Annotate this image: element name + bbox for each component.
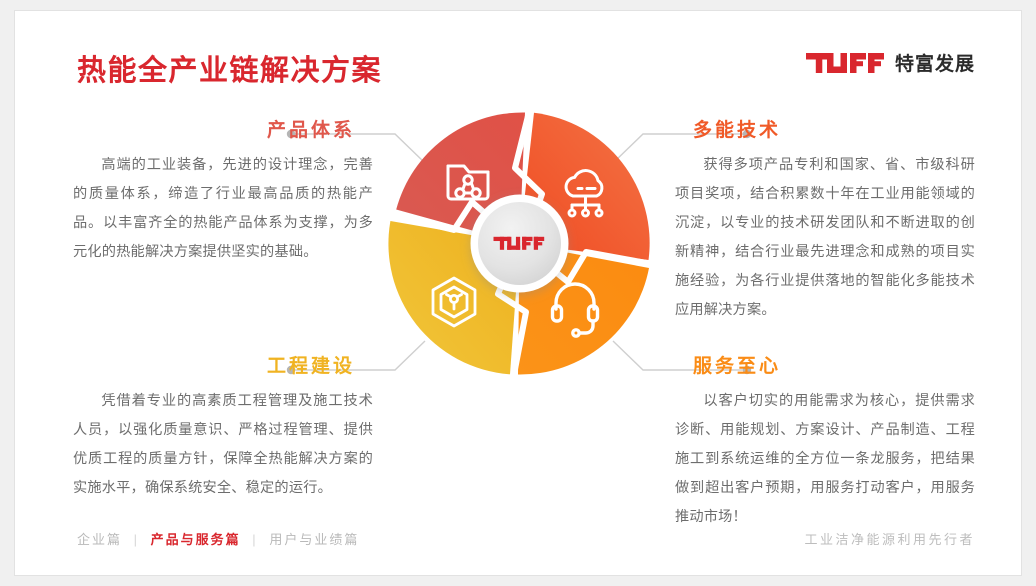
section-engineering-construction: 工程建设 凭借着专业的高素质工程管理及施工技术人员，以强化质量意识、严格过程管理… [73, 351, 373, 503]
section-title-multi-energy-technology: 多能技术 [675, 115, 975, 142]
section-title-engineering-construction: 工程建设 [73, 351, 373, 378]
section-title-service-first: 服务至心 [675, 351, 975, 378]
wheel-hub [471, 195, 569, 293]
footer-nav: 企业篇 | 产品与服务篇 | 用户与业绩篇 [77, 529, 359, 548]
footer-nav-item-0[interactable]: 企业篇 [77, 532, 122, 547]
footer-nav-item-1[interactable]: 产品与服务篇 [151, 532, 241, 547]
section-service-first: 服务至心 以客户切实的用能需求为核心，提供需求诊断、用能规划、方案设计、产品制造… [675, 351, 975, 532]
section-body-engineering-construction: 凭借着专业的高素质工程管理及施工技术人员，以强化质量意识、严格过程管理、提供优质… [73, 387, 373, 503]
hub-tuff-logo-icon [494, 237, 545, 250]
section-body-multi-energy-technology: 获得多项产品专利和国家、省、市级科研项目奖项，结合积累数十年在工业用能领域的沉淀… [675, 151, 975, 325]
tuff-wordmark-icon [806, 51, 886, 75]
footer-nav-separator-0: | [134, 532, 139, 547]
section-body-product-system: 高端的工业装备，先进的设计理念，完善的质量体系，缔造了行业最高品质的热能产品。以… [73, 151, 373, 267]
section-body-service-first: 以客户切实的用能需求为核心，提供需求诊断、用能规划、方案设计、产品制造、工程施工… [675, 387, 975, 532]
brand-logo: 特富发展 [806, 49, 975, 76]
slide-canvas: 热能全产业链解决方案 特富发展 [14, 10, 1022, 576]
slide-header: 热能全产业链解决方案 特富发展 [15, 11, 1021, 107]
slide-footer: 企业篇 | 产品与服务篇 | 用户与业绩篇 工业洁净能源利用先行者 [15, 529, 1021, 551]
footer-nav-item-2[interactable]: 用户与业绩篇 [269, 532, 359, 547]
footer-slogan: 工业洁净能源利用先行者 [804, 529, 975, 548]
section-product-system: 产品体系 高端的工业装备，先进的设计理念，完善的质量体系，缔造了行业最高品质的热… [73, 115, 373, 267]
section-title-product-system: 产品体系 [73, 115, 373, 142]
page-title: 热能全产业链解决方案 [77, 47, 382, 89]
section-multi-energy-technology: 多能技术 获得多项产品专利和国家、省、市级科研项目奖项，结合积累数十年在工业用能… [675, 115, 975, 325]
footer-nav-separator-1: | [252, 532, 257, 547]
four-segment-wheel-diagram [382, 106, 657, 381]
brand-name: 特富发展 [895, 49, 975, 76]
